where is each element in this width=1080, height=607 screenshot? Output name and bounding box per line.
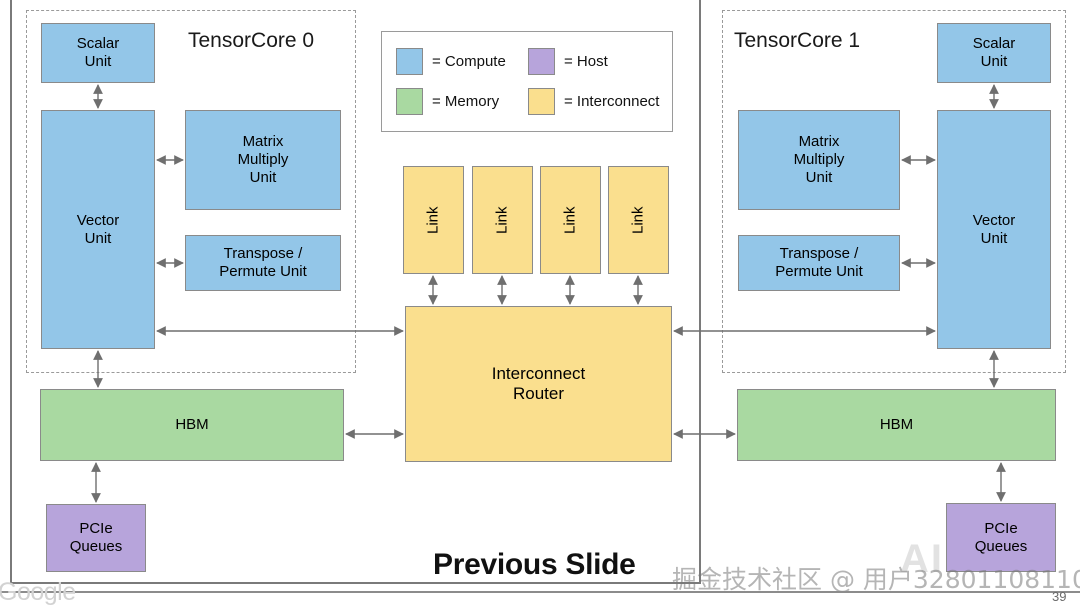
tensorcore-1-title: TensorCore 1 bbox=[734, 29, 860, 53]
legend: = Compute = Host = Memory = Interconnect bbox=[381, 31, 673, 132]
tc1-matrix-multiply-unit: Matrix Multiply Unit bbox=[738, 110, 900, 210]
legend-item-compute: = Compute bbox=[396, 48, 528, 75]
tensorcore-0-title: TensorCore 0 bbox=[188, 29, 314, 53]
legend-label-host: = Host bbox=[564, 53, 608, 70]
tc1-scalar-unit: Scalar Unit bbox=[937, 23, 1051, 83]
tc0-vector-unit: Vector Unit bbox=[41, 110, 155, 349]
tc1-transpose-permute-unit: Transpose / Permute Unit bbox=[738, 235, 900, 291]
tc1-vector-unit: Vector Unit bbox=[937, 110, 1051, 349]
link-box-2: Link bbox=[472, 166, 533, 274]
page-number: 39 bbox=[1052, 589, 1066, 604]
link-box-4: Link bbox=[608, 166, 669, 274]
memory-swatch bbox=[396, 88, 423, 115]
tc0-transpose-permute-unit: Transpose / Permute Unit bbox=[185, 235, 341, 291]
host-swatch bbox=[528, 48, 555, 75]
legend-label-compute: = Compute bbox=[432, 53, 506, 70]
legend-label-interconnect: = Interconnect bbox=[564, 93, 659, 110]
interconnect-swatch bbox=[528, 88, 555, 115]
tc1-hbm: HBM bbox=[737, 389, 1056, 461]
tc0-matrix-multiply-unit: Matrix Multiply Unit bbox=[185, 110, 341, 210]
interconnect-router: Interconnect Router bbox=[405, 306, 672, 462]
tc0-pcie-queues: PCIe Queues bbox=[46, 504, 146, 572]
previous-slide-label: Previous Slide bbox=[433, 548, 636, 582]
legend-item-interconnect: = Interconnect bbox=[528, 88, 660, 115]
legend-item-memory: = Memory bbox=[396, 88, 528, 115]
link-box-1: Link bbox=[403, 166, 464, 274]
tc0-hbm: HBM bbox=[40, 389, 344, 461]
footer-divider bbox=[0, 591, 1080, 593]
compute-swatch bbox=[396, 48, 423, 75]
link-box-3: Link bbox=[540, 166, 601, 274]
legend-label-memory: = Memory bbox=[432, 93, 499, 110]
slide-canvas: TensorCore 0 Scalar Unit Vector Unit Mat… bbox=[0, 0, 1080, 607]
legend-item-host: = Host bbox=[528, 48, 660, 75]
tc0-scalar-unit: Scalar Unit bbox=[41, 23, 155, 83]
google-logo: Google bbox=[0, 578, 76, 607]
